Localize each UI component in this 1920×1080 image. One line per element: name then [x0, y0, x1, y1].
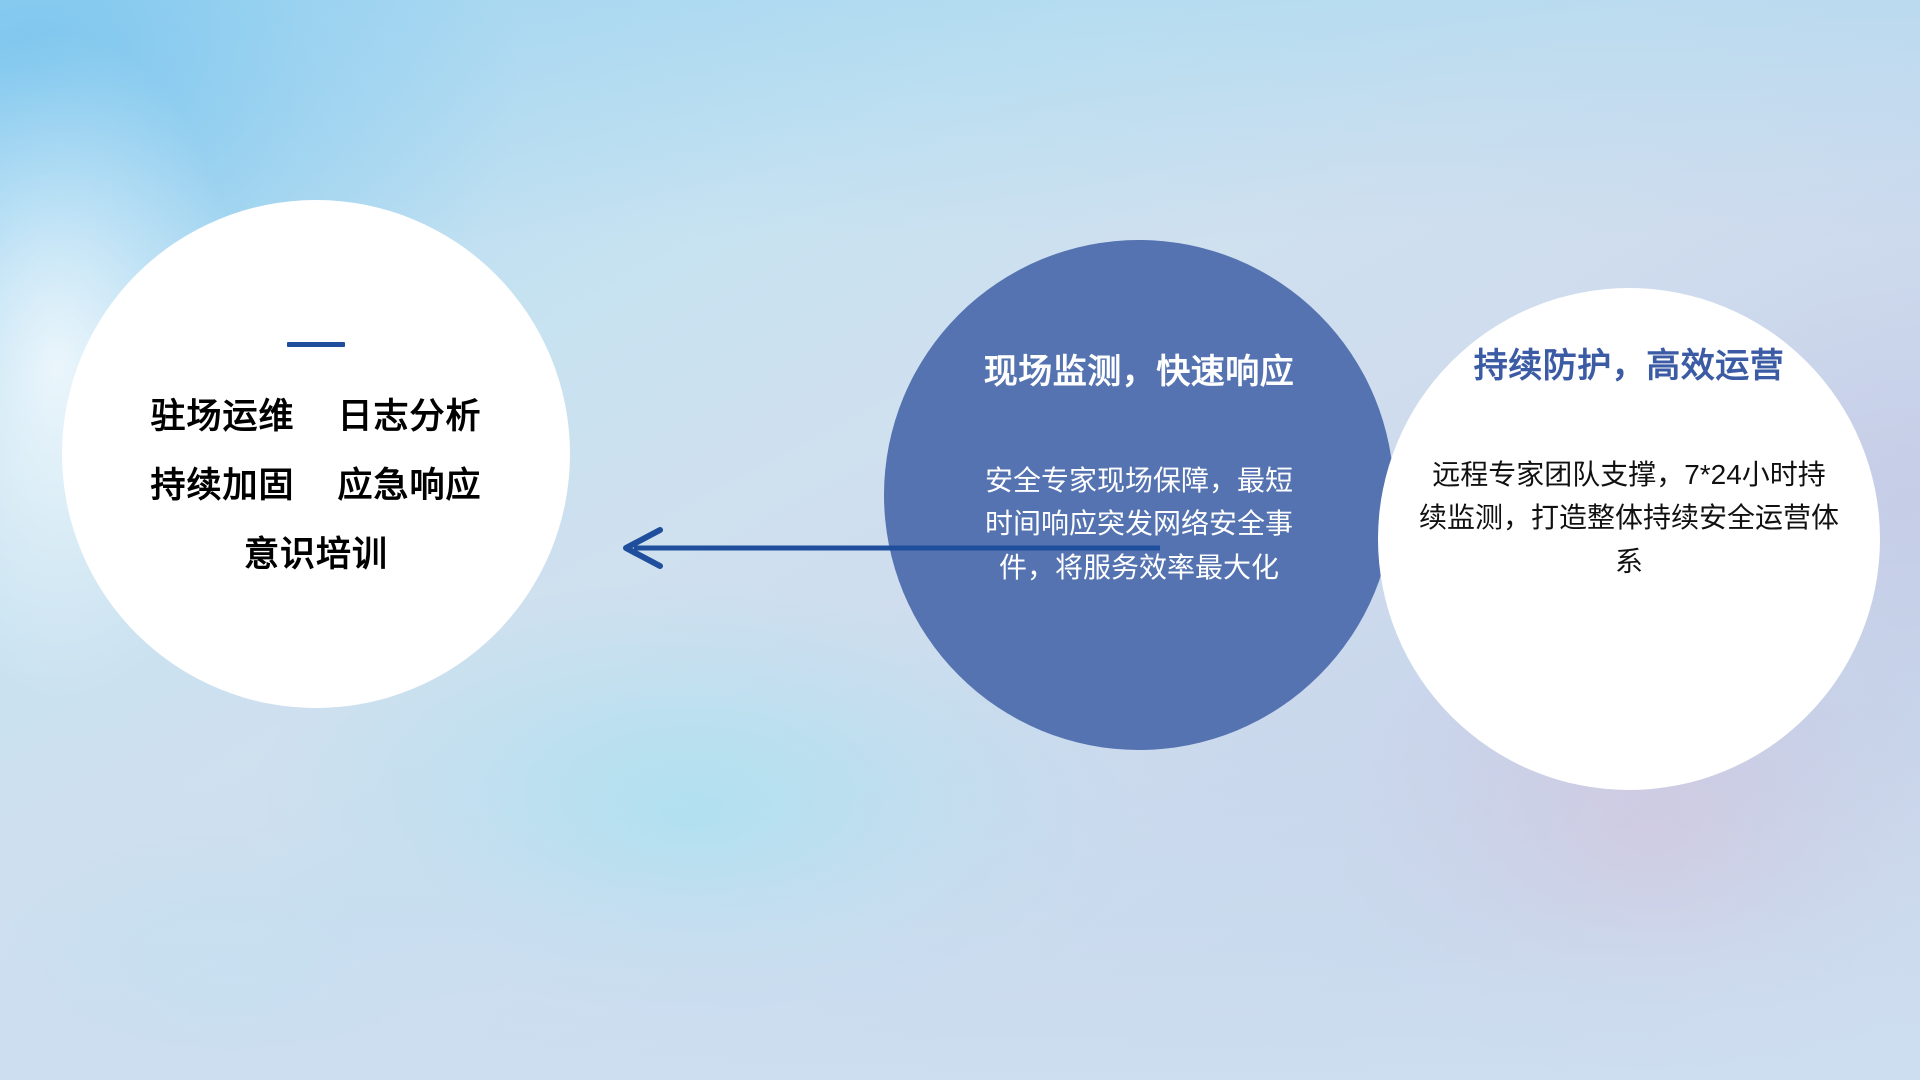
- onsite-monitoring-title: 现场监测，快速响应: [984, 344, 1295, 393]
- capability-line-1: 驻场运维 日志分析: [151, 399, 482, 434]
- capability-line-3: 意识培训: [244, 537, 388, 572]
- continuous-protection-title: 持续防护，高效运营: [1474, 338, 1785, 387]
- onsite-monitoring-circle-content: 现场监测，快速响应 安全专家现场保障，最短时间响应突发网络安全事件，将服务效率最…: [884, 240, 1394, 750]
- capability-circle-content: 驻场运维 日志分析 持续加固 应急响应 意识培训: [62, 200, 570, 708]
- divider-dash: [287, 342, 345, 347]
- continuous-protection-body: 远程专家团队支撑，7*24小时持续监测，打造整体持续安全运营体系: [1419, 453, 1839, 583]
- slide-canvas: 驻场运维 日志分析 持续加固 应急响应 意识培训 现场监测，快速响应 安全专家现…: [0, 0, 1920, 1080]
- onsite-monitoring-body: 安全专家现场保障，最短时间响应突发网络安全事件，将服务效率最大化: [974, 459, 1304, 589]
- capability-line-2: 持续加固 应急响应: [151, 468, 482, 503]
- continuous-protection-circle-content: 持续防护，高效运营 远程专家团队支撑，7*24小时持续监测，打造整体持续安全运营…: [1378, 288, 1880, 790]
